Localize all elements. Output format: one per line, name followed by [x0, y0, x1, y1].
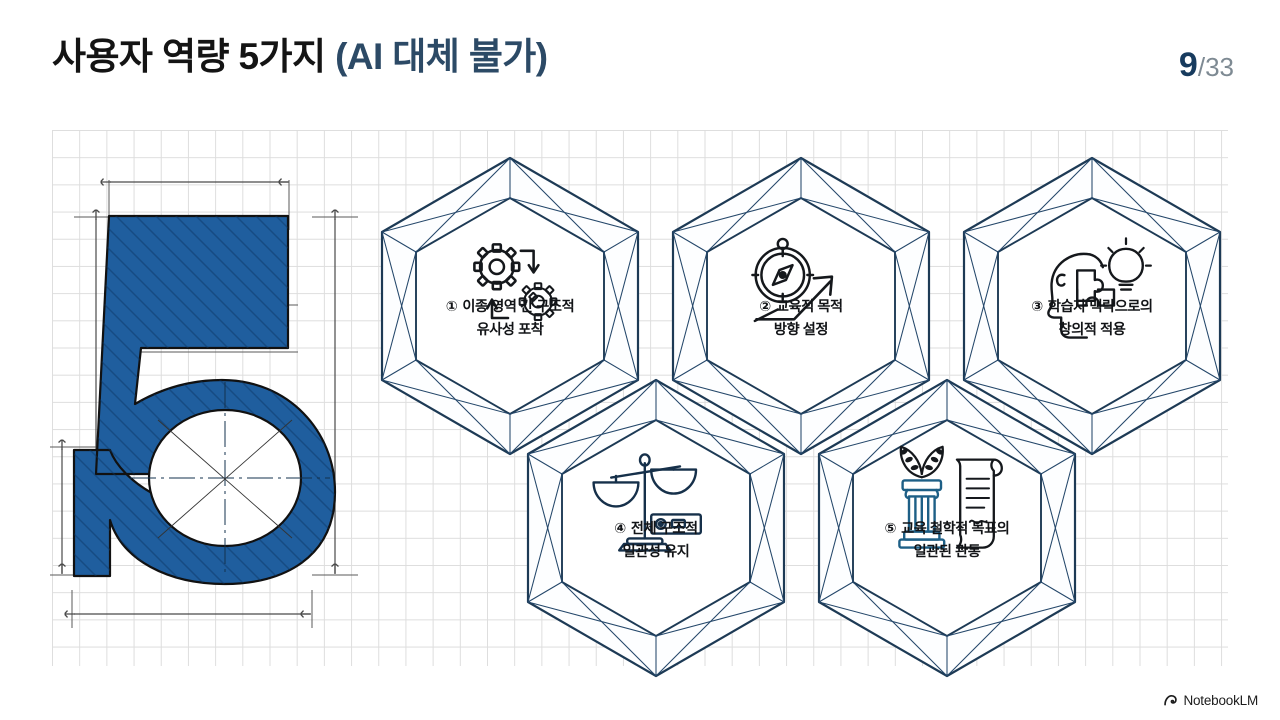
- hexagon-card-4[interactable]: ④전체 구조적 일관성 유지: [528, 380, 784, 676]
- hexagon-card-2[interactable]: ②교육적 목적 방향 설정: [673, 158, 929, 454]
- brand-footer: NotebookLM: [1163, 693, 1258, 708]
- brand-name: NotebookLM: [1183, 693, 1258, 708]
- page-title-main: 사용자 역량 5가지: [52, 36, 335, 77]
- blueprint-numeral-panel: [40, 120, 390, 680]
- hexagon-card-1[interactable]: ①이종 영역 간 구조적 유사성 포착: [382, 158, 638, 454]
- hexagon-1-line1: ①이종 영역 간 구조적: [446, 298, 574, 315]
- hexagon-3-line2: 창의적 적용: [1059, 321, 1126, 338]
- hexagon-5-line2: 일관된 관통: [914, 543, 981, 560]
- page-title: 사용자 역량 5가지 (AI 대체 불가): [52, 38, 547, 75]
- hexagon-card-5[interactable]: ⑤교육 철학적 목표의 일관된 관통: [819, 380, 1075, 676]
- page-title-sub: (AI 대체 불가): [335, 36, 547, 77]
- notebooklm-logo-icon: [1163, 693, 1178, 708]
- slide-header: 사용자 역량 5가지 (AI 대체 불가) 9/33: [0, 0, 1280, 118]
- slide-canvas: 사용자 역량 5가지 (AI 대체 불가) 9/33: [0, 0, 1280, 720]
- page-total: /33: [1198, 52, 1234, 82]
- hexagon-card-3[interactable]: ③학습자 맥락으로의 창의적 적용: [964, 158, 1220, 454]
- hexagon-cluster: ①이종 영역 간 구조적 유사성 포착: [362, 118, 1240, 678]
- hexagon-2-line2: 방향 설정: [774, 321, 828, 338]
- hexagon-3-line1: ③학습자 맥락으로의: [1031, 298, 1152, 315]
- page-current: 9: [1179, 46, 1198, 84]
- hexagon-4-line2: 일관성 유지: [623, 543, 690, 560]
- hexagon-5-line1: ⑤교육 철학적 목표의: [885, 520, 1010, 537]
- hexagon-1-line2: 유사성 포착: [477, 321, 544, 338]
- page-indicator: 9/33: [1179, 48, 1234, 82]
